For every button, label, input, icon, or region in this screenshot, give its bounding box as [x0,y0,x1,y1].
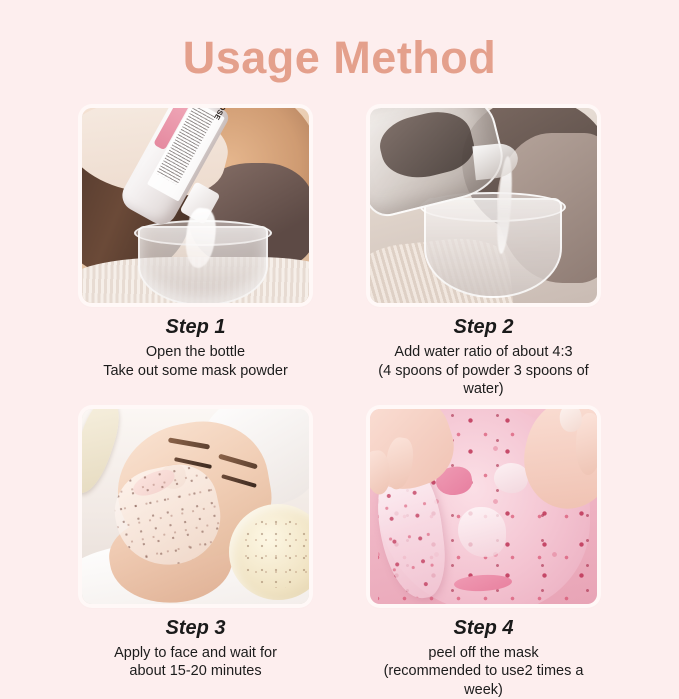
step-1-title: Step 1 [82,315,309,339]
step-3-image [82,409,309,604]
step-1-description: Open the bottle Take out some mask powde… [82,343,309,380]
step-3-title: Step 3 [82,616,309,640]
peeling-off-mask-photo [370,409,597,604]
step-card-1: BULGARIAN ROSE Step 1 Open the bottle Ta… [82,108,309,399]
step-4-image [370,409,597,604]
pouring-water-into-bowl-photo [370,108,597,303]
applying-mask-to-face-photo [82,409,309,604]
glass-bowl-shape [424,198,562,298]
pitcher-shadow-shape [375,108,479,186]
usage-method-infographic: Usage Method [0,0,679,679]
step-card-4: Step 4 peel off the mask (recommended to… [370,409,597,699]
pouring-powder-from-bottle-photo: BULGARIAN ROSE [82,108,309,303]
step-card-3: Step 3 Apply to face and wait for about … [82,409,309,699]
mask-nose-hole [458,507,506,557]
step-2-description: Add water ratio of about 4:3 (4 spoons o… [370,343,597,399]
steps-grid: BULGARIAN ROSE Step 1 Open the bottle Ta… [82,108,597,699]
step-1-image: BULGARIAN ROSE [82,108,309,303]
step-4-description: peel off the mask (recommended to use2 t… [370,644,597,699]
step-2-image [370,108,597,303]
step-card-2: Step 2 Add water ratio of about 4:3 (4 s… [370,108,597,399]
step-2-title: Step 2 [370,315,597,339]
step-4-title: Step 4 [370,616,597,640]
step-3-description: Apply to face and wait for about 15-20 m… [82,644,309,681]
page-title: Usage Method [0,31,679,85]
